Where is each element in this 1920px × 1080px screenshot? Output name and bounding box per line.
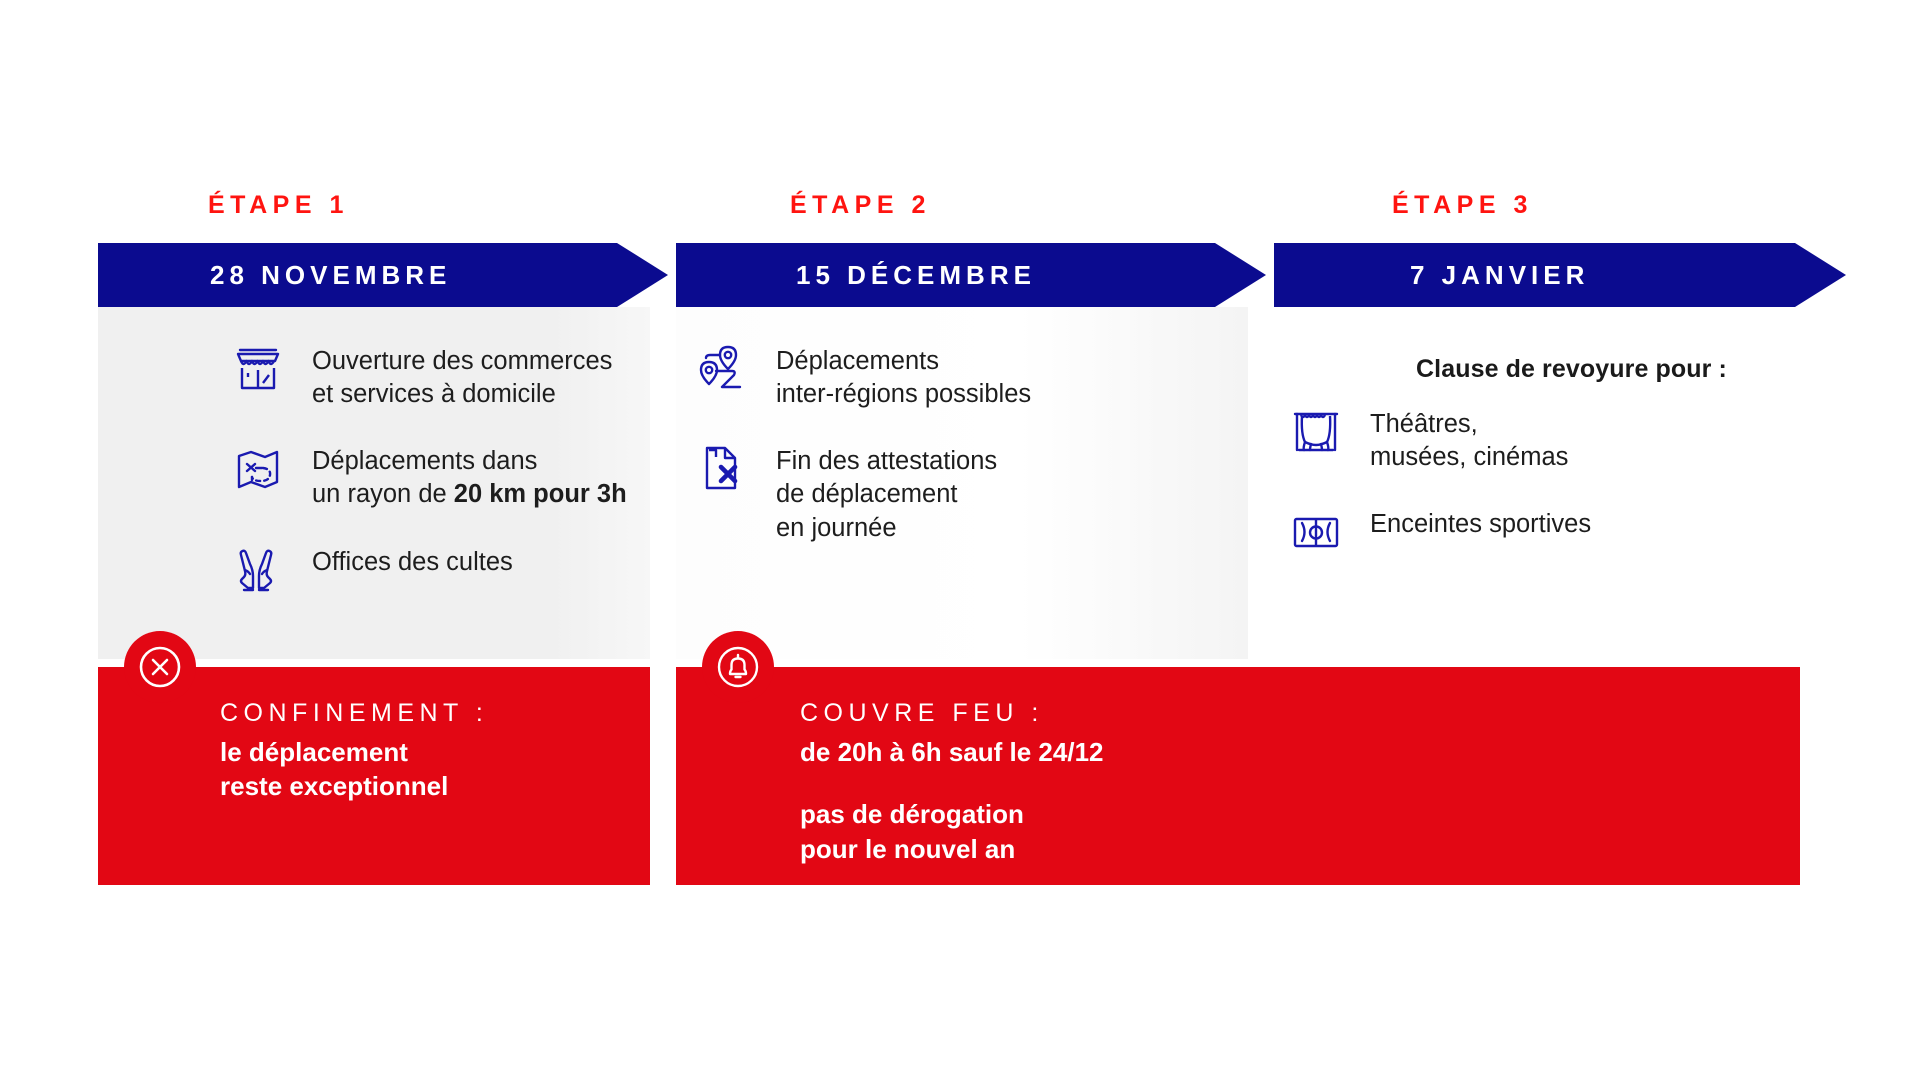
- etape-label-2: ÉTAPE 2: [790, 191, 931, 220]
- list-item: Ouverture des commerces et services à do…: [98, 341, 650, 411]
- list-item-text: Enceintes sportives: [1370, 504, 1591, 541]
- list-item: Fin des attestations de déplacement en j…: [676, 441, 1248, 544]
- list-item-text: Déplacements inter-régions possibles: [776, 341, 1031, 411]
- date-text-3: 7 JANVIER: [1410, 260, 1589, 291]
- list-item: Offices des cultes: [98, 542, 650, 598]
- list-item: Théâtres, musées, cinémas: [1274, 404, 1846, 474]
- step-panel-3: Clause de revoyure pour : Théâtres, musé…: [1274, 307, 1846, 659]
- list-item: Enceintes sportives: [1274, 504, 1846, 560]
- date-text-2: 15 DÉCEMBRE: [796, 260, 1036, 291]
- list-item: Déplacements inter-régions possibles: [676, 341, 1248, 411]
- infographic-root: ÉTAPE 1 ÉTAPE 2 ÉTAPE 3 28 NOVEMBRE 15 D…: [0, 0, 1920, 1080]
- bell-icon: [702, 631, 774, 703]
- list-item-text: Ouverture des commerces et services à do…: [312, 341, 612, 411]
- map-route-icon: [226, 441, 290, 497]
- stadium-icon: [1284, 504, 1348, 560]
- shop-icon: [226, 341, 290, 397]
- circle-x-icon: [124, 631, 196, 703]
- alert-line2-2: pas de dérogation pour le nouvel an: [800, 797, 1104, 866]
- alert-line1-1: le déplacement reste exceptionnel: [220, 735, 488, 804]
- step-panel-1: Ouverture des commerces et services à do…: [98, 307, 650, 659]
- etape-label-3: ÉTAPE 3: [1392, 191, 1533, 220]
- date-banner-2: 15 DÉCEMBRE: [676, 243, 1266, 307]
- list-item-text: Déplacements dans un rayon de 20 km pour…: [312, 441, 627, 511]
- alert-title-1: CONFINEMENT :: [220, 699, 488, 728]
- panel-heading-3: Clause de revoyure pour :: [1416, 355, 1846, 384]
- list-item: Déplacements dans un rayon de 20 km pour…: [98, 441, 650, 511]
- list-item-text: Offices des cultes: [312, 542, 513, 579]
- document-x-icon: [690, 441, 754, 497]
- date-banner-3: 7 JANVIER: [1274, 243, 1846, 307]
- etape-label-1: ÉTAPE 1: [208, 191, 349, 220]
- praying-hands-icon: [226, 542, 290, 598]
- location-pins-icon: [690, 341, 754, 397]
- theatre-curtain-icon: [1284, 404, 1348, 460]
- date-banner-1: 28 NOVEMBRE: [98, 243, 668, 307]
- alert-title-2: COUVRE FEU :: [800, 699, 1104, 728]
- list-item-text: Fin des attestations de déplacement en j…: [776, 441, 997, 544]
- alert-banner-1: CONFINEMENT : le déplacement reste excep…: [98, 667, 650, 885]
- step-panel-2: Déplacements inter-régions possibles Fin…: [676, 307, 1248, 659]
- alert-line1-2: de 20h à 6h sauf le 24/12: [800, 735, 1104, 769]
- list-item-text: Théâtres, musées, cinémas: [1370, 404, 1568, 474]
- date-text-1: 28 NOVEMBRE: [210, 260, 451, 291]
- alert-banner-2: COUVRE FEU : de 20h à 6h sauf le 24/12 p…: [676, 667, 1800, 885]
